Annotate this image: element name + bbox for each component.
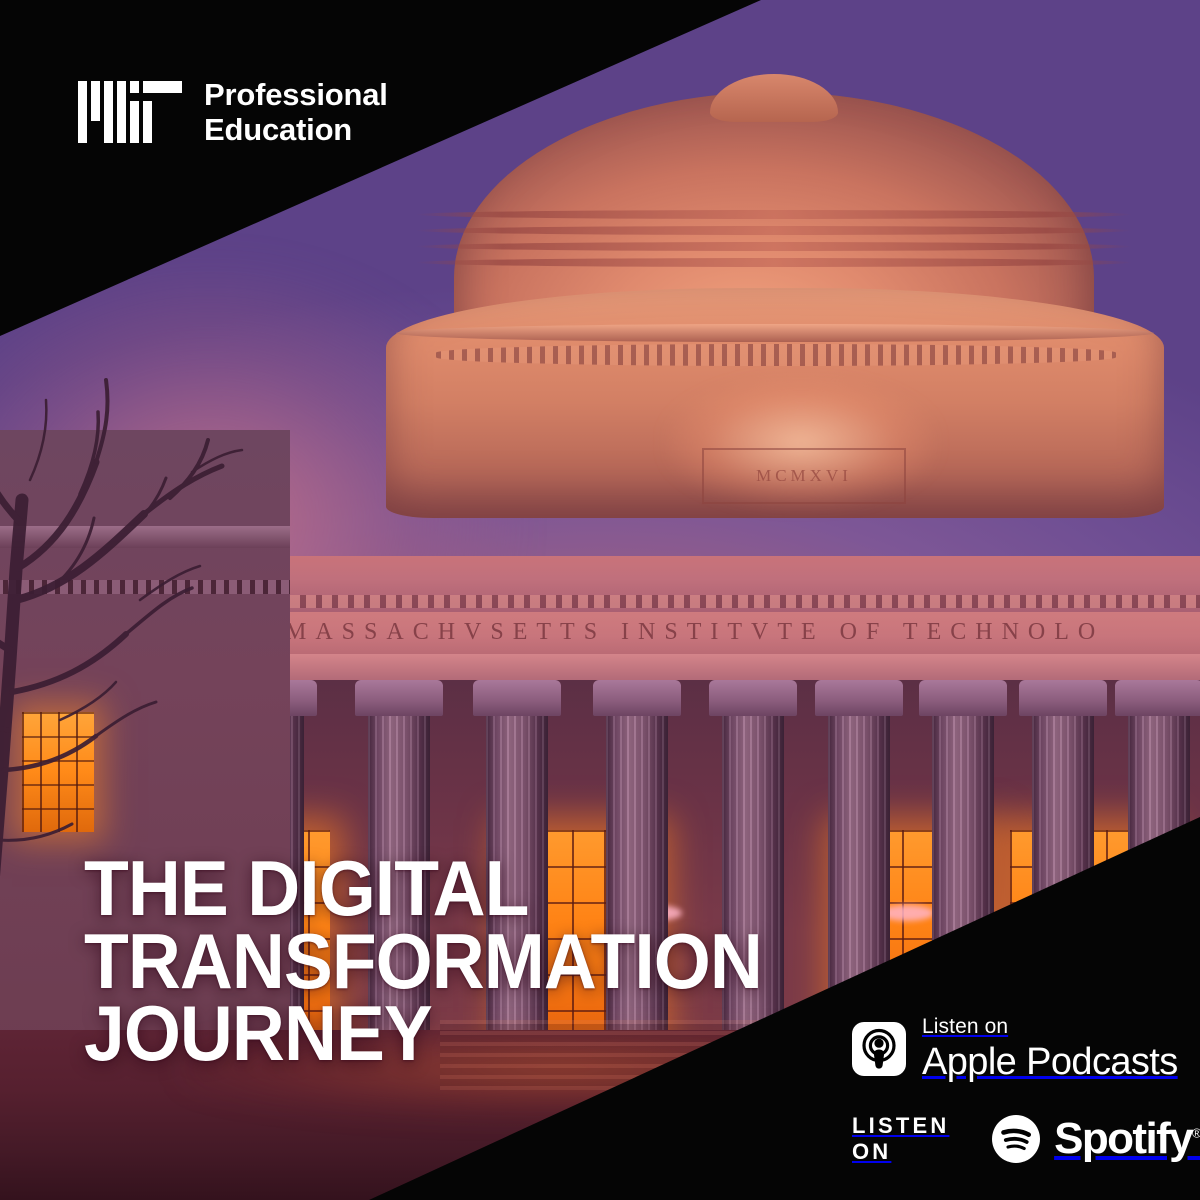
spotify-icon (992, 1115, 1040, 1163)
apple-podcasts-label: Apple Podcasts (922, 1043, 1178, 1081)
page-title: The Digital Transformation Journey (84, 852, 874, 1070)
bare-tree-silhouette (0, 300, 290, 920)
mit-logo-bars-icon (78, 81, 182, 143)
dome-drum: MCMXVI (386, 288, 1164, 518)
podcast-cover-art: MCMXVI MASSACHVSETTS INSTITVTE OF TECHNO… (0, 0, 1200, 1200)
dome-ring (416, 210, 1132, 219)
great-dome: MCMXVI (358, 92, 1188, 562)
drum-dentils (436, 344, 1116, 366)
apple-listen-on-label: Listen on (922, 1016, 1178, 1037)
frieze-inscription: MASSACHVSETTS INSTITVTE OF TECHNOLO (285, 619, 1104, 646)
dome-ring (416, 258, 1132, 267)
apple-podcasts-badge[interactable]: Listen on Apple Podcasts (852, 1016, 1178, 1081)
logo-wordmark: Professional Education (204, 78, 388, 147)
dome-ring (416, 226, 1132, 235)
dome-ring (416, 242, 1132, 251)
dome-plaque-text: MCMXVI (702, 448, 906, 504)
spotify-wordmark-text: Spotify (1054, 1114, 1192, 1163)
spotify-badge[interactable]: LISTEN ON Spotify® (852, 1113, 1200, 1165)
apple-badge-text: Listen on Apple Podcasts (922, 1016, 1178, 1081)
drum-cornice (396, 324, 1154, 342)
spotify-wordmark: Spotify® (1054, 1114, 1200, 1164)
mit-professional-education-logo: Professional Education (78, 78, 388, 147)
spotify-listen-on-label: LISTEN ON (852, 1113, 978, 1165)
registered-trademark-mark: ® (1192, 1125, 1200, 1140)
apple-podcasts-icon (852, 1022, 906, 1076)
